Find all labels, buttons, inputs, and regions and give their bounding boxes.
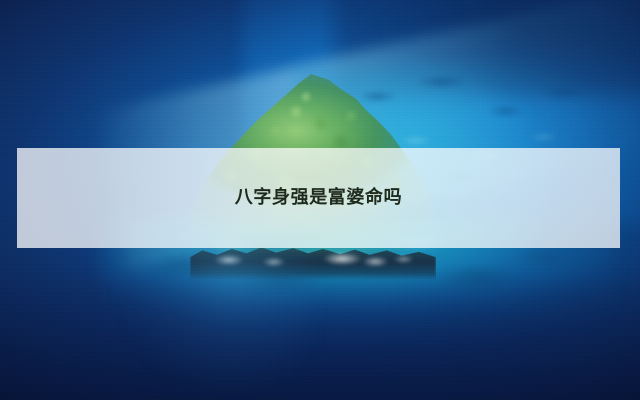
deep-water-bottom-layer [0, 272, 640, 400]
caption-title: 八字身强是富婆命吗 [235, 189, 402, 207]
caption-banner: 八字身强是富婆命吗 [17, 148, 620, 248]
light-shaft-layer [115, 248, 307, 400]
screenshot-canvas: 八字身强是富婆命吗 [0, 0, 640, 400]
